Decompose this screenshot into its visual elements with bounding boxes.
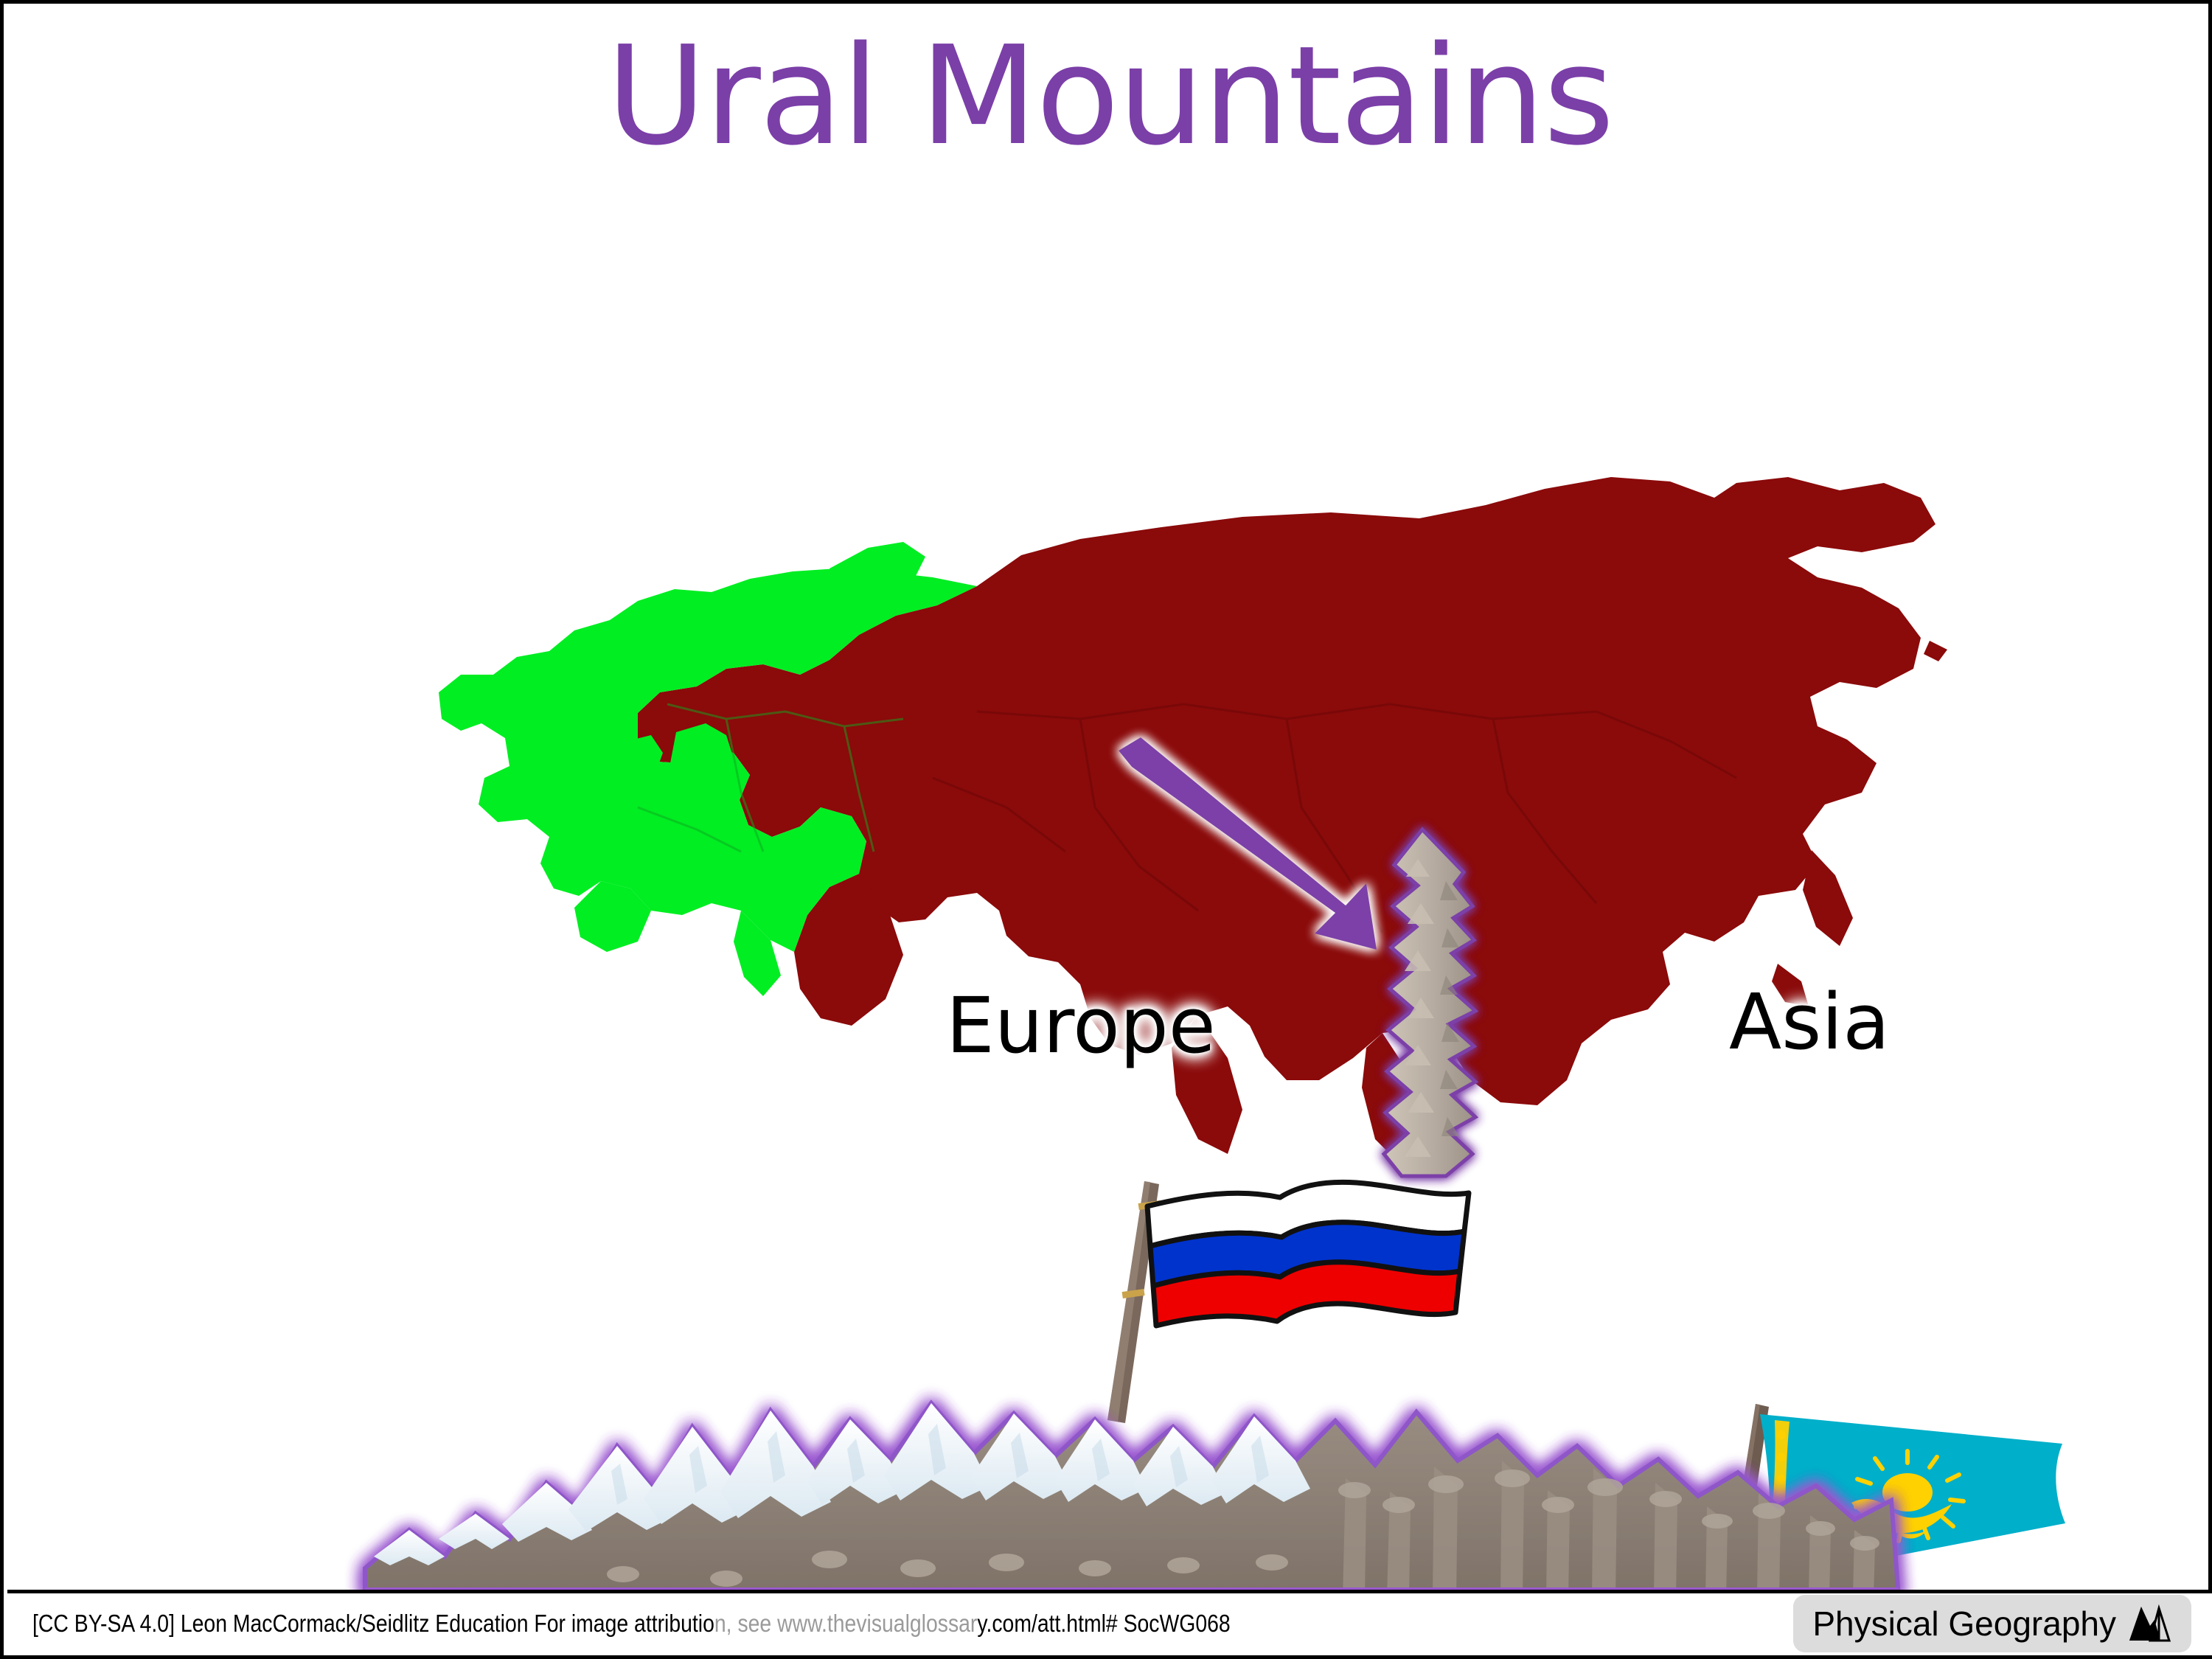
arrow-svg: [1102, 730, 1486, 1003]
mountains-icon: [2126, 1604, 2172, 1644]
page-title: Ural Mountains: [4, 24, 2212, 167]
status-badge: Physical Geography: [1793, 1595, 2191, 1652]
range-svg: [358, 1309, 1906, 1604]
badge-label: Physical Geography: [1812, 1604, 2116, 1644]
map-label-asia: Asia: [1729, 977, 1890, 1067]
attribution-bar: [CC BY-SA 4.0] Leon MacCormack/Seidlitz …: [7, 1590, 2212, 1655]
pointer-arrow: [1102, 730, 1486, 1003]
mountain-range-illustration: [358, 1309, 1906, 1604]
eurasia-map: Europe Asia: [417, 394, 1965, 1176]
flag-cloth: [1147, 1182, 1469, 1326]
map-label-europe: Europe: [946, 981, 1216, 1071]
attribution-text: [CC BY-SA 4.0] Leon MacCormack/Seidlitz …: [32, 1610, 1231, 1638]
attribution-visible: [CC BY-SA 4.0] Leon MacCormack/Seidlitz …: [32, 1610, 714, 1637]
arrow-shape: [1119, 737, 1377, 950]
attribution-faded: n, see www.thevisualglossar: [714, 1610, 977, 1637]
slide-canvas: Ural Mountains: [0, 0, 2212, 1659]
attribution-tail: y.com/att.html# SocWG068: [977, 1610, 1230, 1637]
